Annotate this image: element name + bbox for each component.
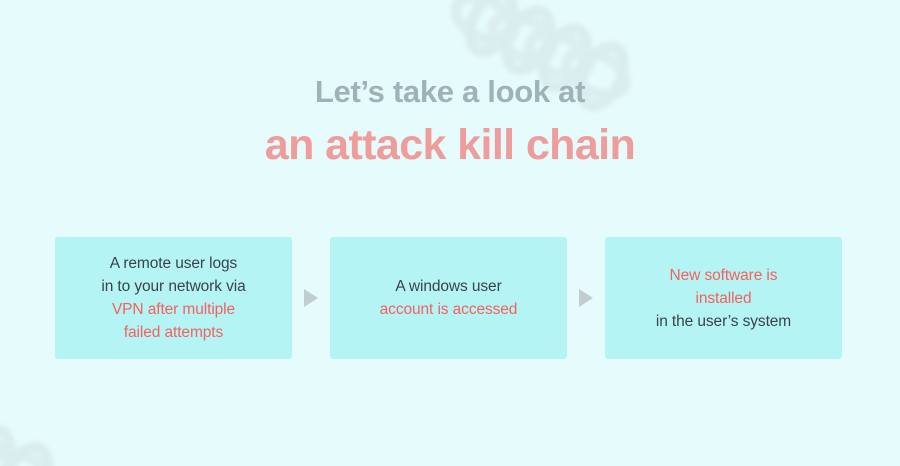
page-title: an attack kill chain	[0, 118, 900, 172]
flow-step-3-text: New software isinstalledin the user’s sy…	[656, 264, 791, 333]
flow-step-3-line-1: New software is	[670, 267, 778, 284]
chain-watermark-background	[0, 0, 900, 466]
flow-step-2-line-2: account is accessed	[380, 301, 518, 318]
attack-kill-chain-flow: A remote user logsin to your network via…	[55, 237, 842, 359]
flow-step-2[interactable]: A windows useraccount is accessed	[330, 237, 567, 359]
chain-link-icon	[0, 433, 64, 466]
page-heading-block: Let’s take a look at an attack kill chai…	[0, 72, 900, 172]
triangle-right-icon	[579, 289, 593, 307]
flow-step-1-text: A remote user logsin to your network via…	[101, 252, 245, 344]
chain-strand-bottom-left	[0, 375, 39, 466]
chain-link-icon	[441, 0, 529, 57]
flow-step-1-line-3: VPN after multiple	[112, 301, 235, 318]
flow-step-3-line-2: installed	[696, 290, 752, 307]
chain-link-icon	[0, 437, 64, 466]
chain-link-icon	[454, 0, 530, 66]
flow-step-3-line-3: in the user’s system	[656, 313, 791, 330]
flow-step-2-line-1: A windows user	[395, 278, 501, 295]
flow-step-1-line-1: A remote user logs	[110, 255, 237, 272]
chain-link-icon	[478, 0, 566, 75]
flow-step-2-text: A windows useraccount is accessed	[380, 275, 518, 321]
flow-step-1-line-4: failed attempts	[124, 324, 223, 341]
chain-link-icon	[0, 420, 26, 466]
chain-link-icon	[0, 417, 26, 466]
flow-connector-1	[292, 237, 330, 359]
flow-step-1[interactable]: A remote user logsin to your network via…	[55, 237, 292, 359]
flow-step-3[interactable]: New software isinstalledin the user’s sy…	[605, 237, 842, 359]
flow-connector-2	[567, 237, 605, 359]
heading-eyebrow: Let’s take a look at	[0, 72, 900, 112]
flow-step-1-line-2: in to your network via	[101, 278, 245, 295]
triangle-right-icon	[304, 289, 318, 307]
